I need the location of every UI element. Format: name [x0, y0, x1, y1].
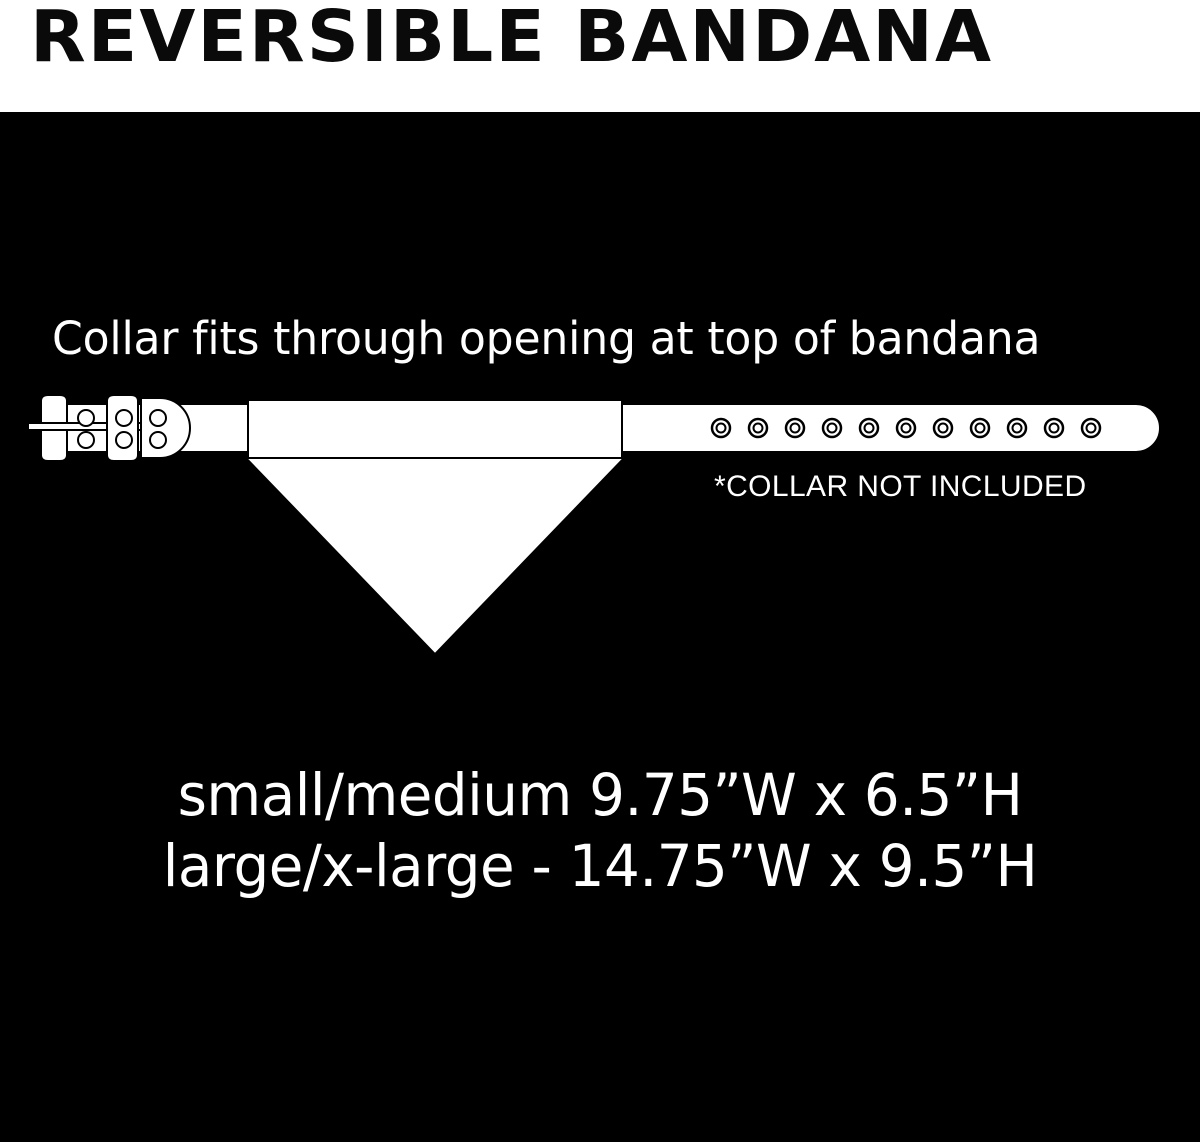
illustration-stage: Collar fits through opening at top of ba… [0, 112, 1200, 1142]
header-band: REVERSIBLE BANDANA [0, 0, 1200, 112]
size-info: small/medium 9.75”W x 6.5”H large/x-larg… [0, 760, 1200, 902]
bandana-illustration [0, 112, 1200, 1142]
size-line-small-medium: small/medium 9.75”W x 6.5”H [18, 760, 1182, 831]
note-collar-not-included: *COLLAR NOT INCLUDED [714, 470, 1087, 504]
page-title: REVERSIBLE BANDANA [30, 0, 1200, 76]
bandana-triangle [248, 458, 622, 652]
bandana-top-casing [248, 400, 622, 458]
product-infographic: REVERSIBLE BANDANA Collar fits through o… [0, 0, 1200, 1142]
size-line-large-xlarge: large/x-large - 14.75”W x 9.5”H [18, 831, 1182, 902]
